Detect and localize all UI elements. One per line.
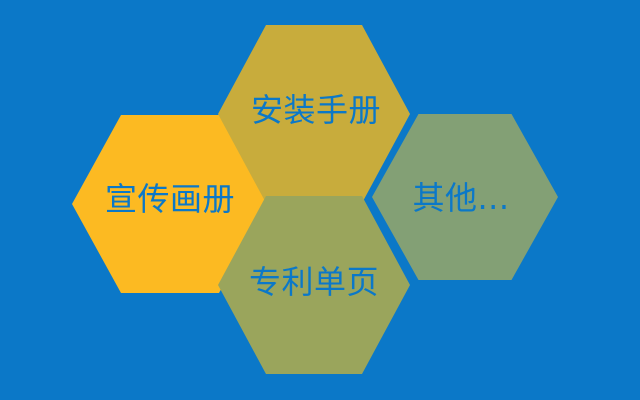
hexagon-diagram-canvas: 宣传画册 安装手册 专利单页 其他... [0, 0, 640, 400]
hexagon-label: 专利单页 [249, 263, 379, 301]
hexagon-label: 安装手册 [251, 91, 381, 129]
hexagon-label: 其他... [412, 179, 509, 217]
hexagon-label: 宣传画册 [105, 180, 235, 218]
hexagon-cluster-svg: 宣传画册 安装手册 专利单页 其他... [0, 0, 640, 400]
